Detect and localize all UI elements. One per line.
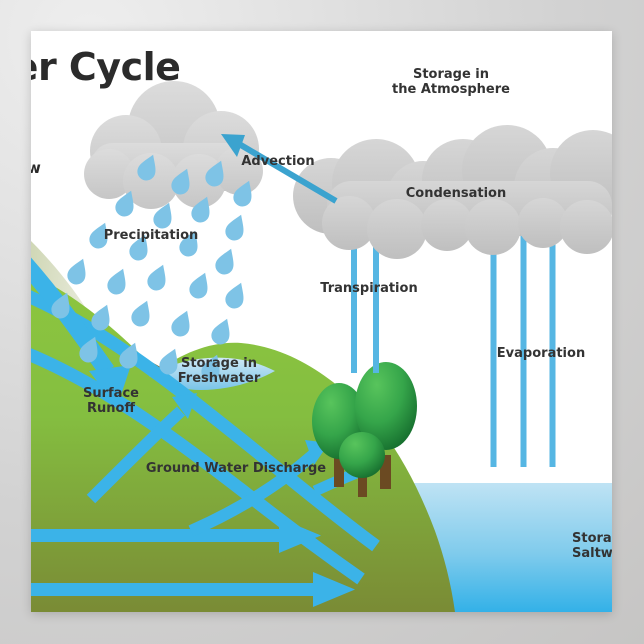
label-ground-water-discharge: Ground Water Discharge — [126, 461, 346, 476]
label-layer: ter Cycle w Storage in the Atmosphere Co… — [31, 31, 612, 612]
water-cycle-poster: ter Cycle w Storage in the Atmosphere Co… — [31, 31, 612, 612]
cropped-text-fragment: w — [31, 159, 41, 177]
label-advection: Advection — [218, 154, 338, 169]
label-surface-runoff: Surface Runoff — [56, 386, 166, 417]
label-evaporation: Evaporation — [471, 346, 611, 361]
label-transpiration: Transpiration — [299, 281, 439, 296]
label-storage-in-saltwater: Stora Saltw — [572, 531, 612, 562]
page-title: ter Cycle — [31, 45, 180, 89]
label-storage-in-freshwater: Storage in Freshwater — [139, 356, 299, 387]
label-condensation: Condensation — [376, 186, 536, 201]
poster-scene: ter Cycle w Storage in the Atmosphere Co… — [0, 0, 644, 644]
label-storage-in-the-atmosphere: Storage in the Atmosphere — [371, 67, 531, 98]
label-precipitation: Precipitation — [81, 228, 221, 243]
